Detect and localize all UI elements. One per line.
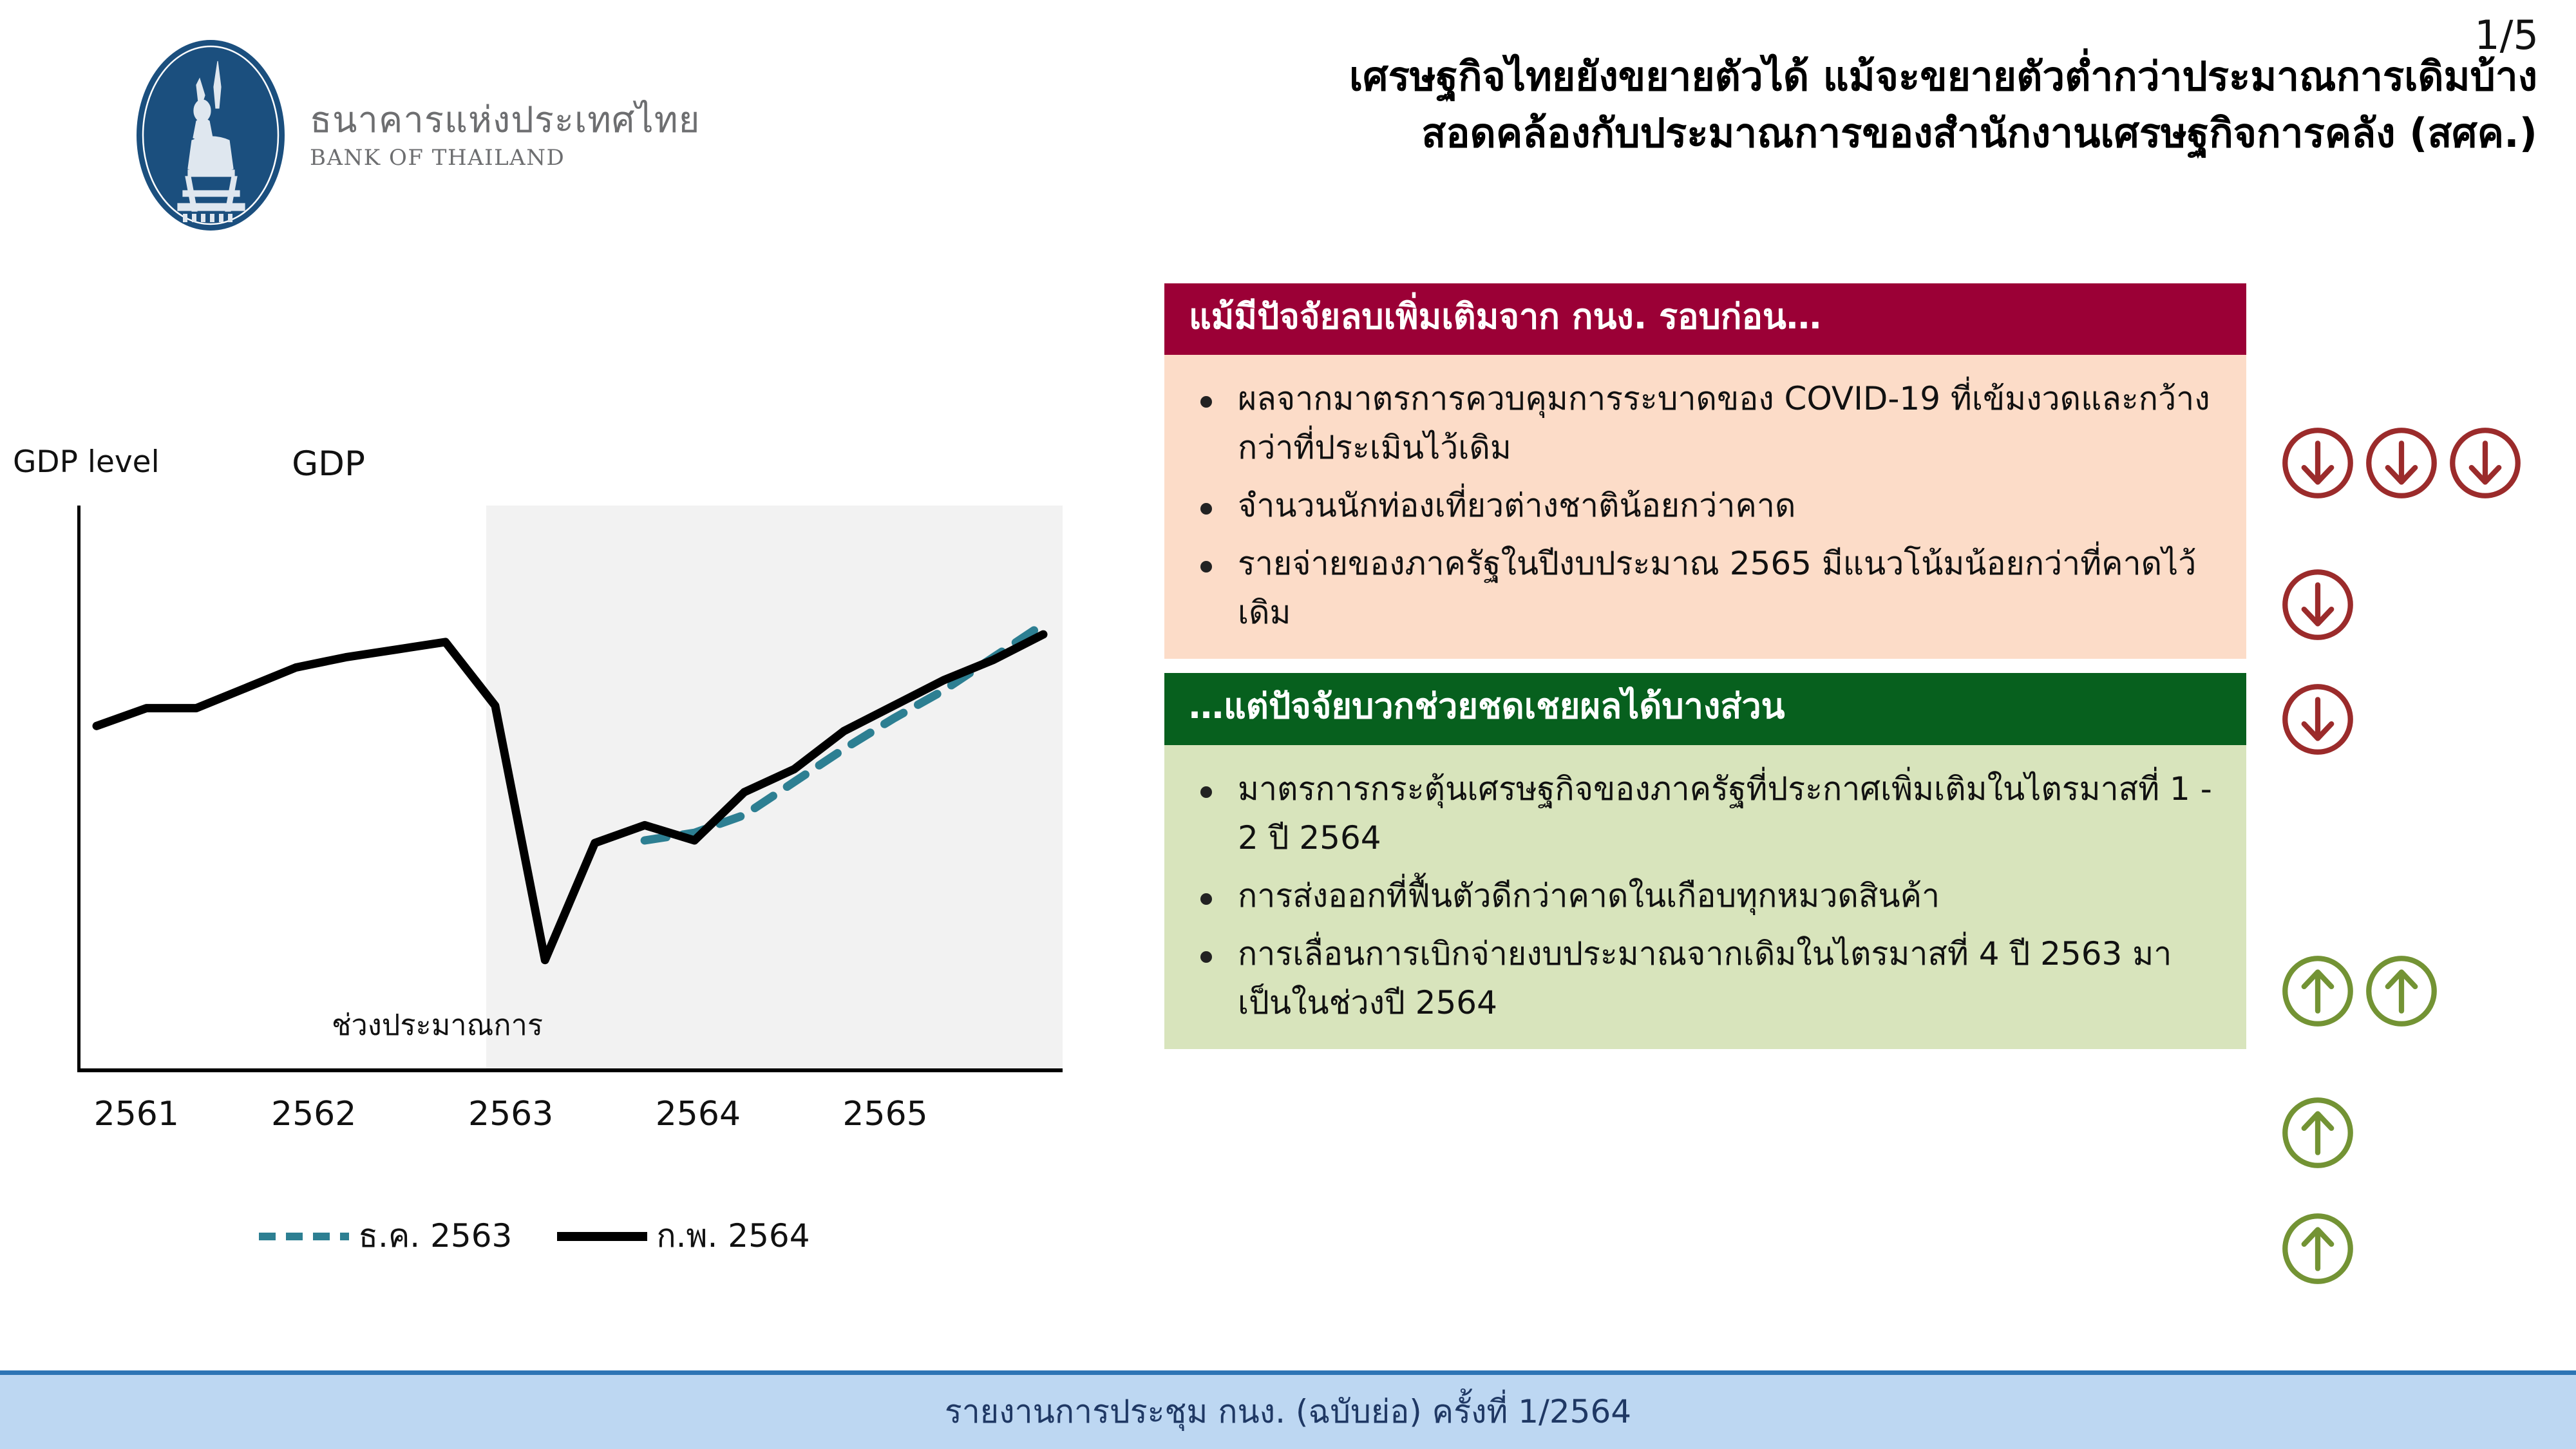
- slide-root: ธนาคารแห่งประเทศไทย BANK OF THAILAND เศร…: [0, 0, 2576, 1449]
- factors-panels: แม้มีปัจจัยลบเพิ่มเติมจาก กนง. รอบก่อน… …: [1164, 283, 2246, 1049]
- bullet-dot-icon: [1200, 503, 1212, 515]
- chart-title: GDP: [6, 444, 650, 484]
- x-tick-2563: 2563: [468, 1095, 553, 1133]
- legend-label-feb2564: ก.พ. 2564: [656, 1211, 810, 1262]
- list-item: รายจ่ายของภาครัฐในปีงบประมาณ 2565 มีแนวโ…: [1193, 539, 2218, 637]
- page-number: 1/5: [2474, 12, 2539, 59]
- legend-item-dec2563: ธ.ค. 2563: [259, 1211, 512, 1262]
- positive-panel-header: …แต่ปัจจัยบวกช่วยชดเชยผลได้บางส่วน: [1164, 673, 2246, 744]
- x-tick-2564: 2564: [656, 1095, 741, 1133]
- x-tick-2565: 2565: [842, 1095, 927, 1133]
- bullet-dot-icon: [1200, 951, 1212, 963]
- positive-panel-body: มาตรการกระตุ้นเศรษฐกิจของภาครัฐที่ประกาศ…: [1164, 745, 2246, 1049]
- chart-plot-area: ช่วงประมาณการ: [77, 506, 1063, 1072]
- bank-of-thailand-seal-icon: [135, 39, 287, 232]
- negative-bullet-1: ผลจากมาตรการควบคุมการระบาดของ COVID-19 ท…: [1238, 374, 2218, 472]
- x-tick-2561: 2561: [94, 1095, 179, 1133]
- footer-text: รายงานการประชุม กนง. (ฉบับย่อ) ครั้งที่ …: [945, 1387, 1631, 1437]
- legend-dashed-swatch-icon: [259, 1233, 349, 1240]
- up-arrow-icon: [2280, 953, 2356, 1029]
- legend-item-feb2564: ก.พ. 2564: [557, 1211, 810, 1262]
- negative-panel-body: ผลจากมาตรการควบคุมการระบาดของ COVID-19 ท…: [1164, 355, 2246, 659]
- list-item: จำนวนนักท่องเที่ยวต่างชาติน้อยกว่าคาด: [1193, 481, 2218, 530]
- chart-legend: ธ.ค. 2563 ก.พ. 2564: [77, 1211, 992, 1262]
- bullet-dot-icon: [1200, 893, 1212, 905]
- logo-thai-name: ธนาคารแห่งประเทศไทย: [310, 100, 700, 141]
- list-item: ผลจากมาตรการควบคุมการระบาดของ COVID-19 ท…: [1193, 374, 2218, 472]
- list-item: การเลื่อนการเบิกจ่ายงบประมาณจากเดิมในไตร…: [1193, 929, 2218, 1027]
- negative-arrows-row-2: [2280, 567, 2356, 643]
- positive-arrows-row-1: [2280, 953, 2439, 1029]
- positive-arrows-row-3: [2280, 1211, 2356, 1287]
- up-arrow-icon: [2280, 1211, 2356, 1287]
- legend-label-dec2563: ธ.ค. 2563: [358, 1211, 512, 1262]
- positive-arrows-row-2: [2280, 1095, 2356, 1171]
- positive-bullet-1: มาตรการกระตุ้นเศรษฐกิจของภาครัฐที่ประกาศ…: [1238, 764, 2218, 862]
- up-arrow-icon: [2363, 953, 2439, 1029]
- positive-bullet-2: การส่งออกที่ฟื้นตัวดีกว่าคาดในเกือบทุกหม…: [1238, 871, 1940, 920]
- negative-bullet-2: จำนวนนักท่องเที่ยวต่างชาติน้อยกว่าคาด: [1238, 481, 1795, 530]
- page-title-line-2: สอดคล้องกับประมาณการของสำนักงานเศรษฐกิจก…: [1050, 105, 2537, 162]
- gdp-chart: GDP level GDP ช่วงประมาณการ 2561 2562 25…: [6, 444, 1088, 1333]
- page-title: เศรษฐกิจไทยยังขยายตัวได้ แม้จะขยายตัวต่ำ…: [1050, 48, 2537, 162]
- down-arrow-icon: [2280, 681, 2356, 757]
- bank-of-thailand-logo: ธนาคารแห่งประเทศไทย BANK OF THAILAND: [135, 39, 700, 232]
- negative-arrows-row-1: [2280, 425, 2523, 501]
- down-arrow-icon: [2280, 425, 2356, 501]
- logo-english-name: BANK OF THAILAND: [310, 145, 700, 171]
- bullet-dot-icon: [1200, 786, 1212, 798]
- legend-solid-swatch-icon: [557, 1232, 647, 1241]
- page-title-line-1: เศรษฐกิจไทยยังขยายตัวได้ แม้จะขยายตัวต่ำ…: [1050, 48, 2537, 105]
- forecast-period-annotation: ช่วงประมาณการ: [332, 1001, 543, 1048]
- negative-bullet-3: รายจ่ายของภาครัฐในปีงบประมาณ 2565 มีแนวโ…: [1238, 539, 2218, 637]
- negative-panel-header: แม้มีปัจจัยลบเพิ่มเติมจาก กนง. รอบก่อน…: [1164, 283, 2246, 355]
- down-arrow-icon: [2280, 567, 2356, 643]
- up-arrow-icon: [2280, 1095, 2356, 1171]
- negative-arrows-row-3: [2280, 681, 2356, 757]
- bullet-dot-icon: [1200, 561, 1212, 573]
- x-tick-2562: 2562: [271, 1095, 356, 1133]
- footer-bar: รายงานการประชุม กนง. (ฉบับย่อ) ครั้งที่ …: [0, 1370, 2576, 1449]
- down-arrow-icon: [2363, 425, 2439, 501]
- chart-lines: [77, 506, 1063, 1072]
- bullet-dot-icon: [1200, 396, 1212, 408]
- chart-x-tick-labels: 2561 2562 2563 2564 2565: [77, 1095, 1063, 1140]
- list-item: มาตรการกระตุ้นเศรษฐกิจของภาครัฐที่ประกาศ…: [1193, 764, 2218, 862]
- down-arrow-icon: [2447, 425, 2523, 501]
- series-line-feb2564: [97, 634, 1043, 960]
- list-item: การส่งออกที่ฟื้นตัวดีกว่าคาดในเกือบทุกหม…: [1193, 871, 2218, 920]
- positive-bullet-3: การเลื่อนการเบิกจ่ายงบประมาณจากเดิมในไตร…: [1238, 929, 2218, 1027]
